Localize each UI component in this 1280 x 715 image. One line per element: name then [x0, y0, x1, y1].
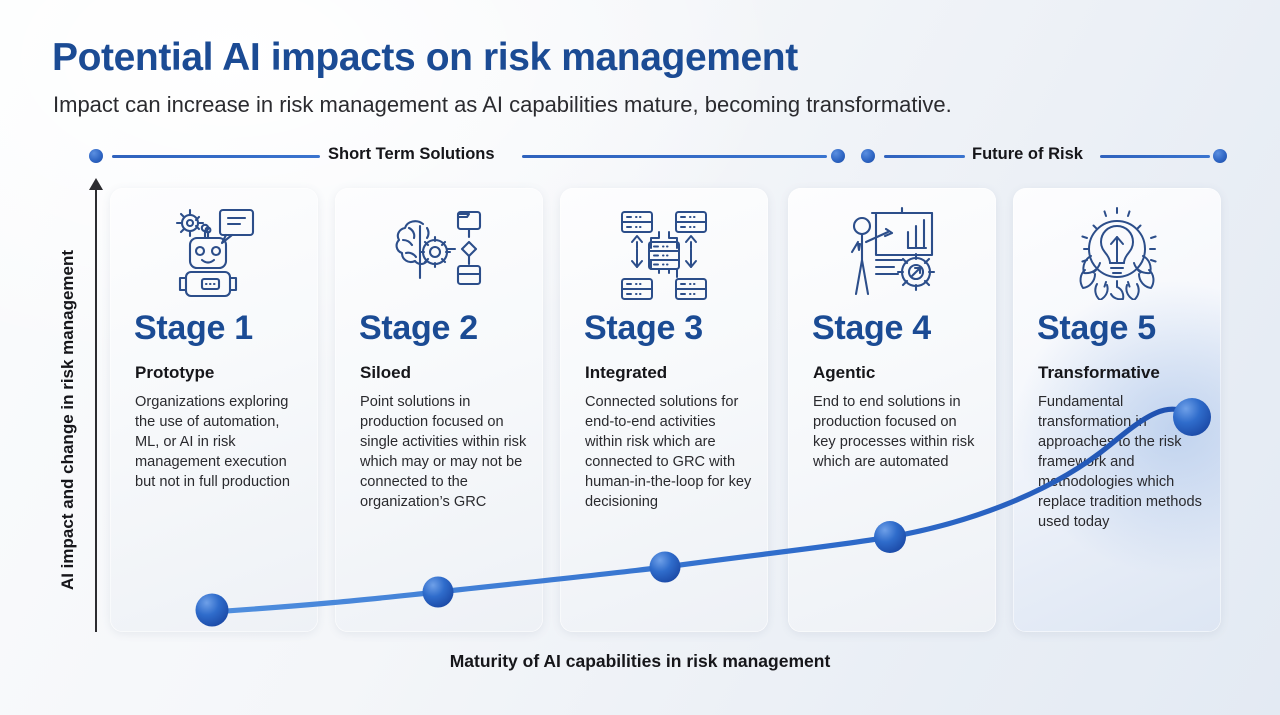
page-subtitle: Impact can increase in risk management a…	[53, 92, 952, 118]
timeline-dot-mid-left	[831, 149, 845, 163]
timeline-dot-start	[89, 149, 103, 163]
y-axis-label: AI impact and change in risk management	[58, 220, 78, 620]
stage-card-5[interactable]: Stage 5 Transformative Fundamental trans…	[1013, 188, 1221, 632]
server-network-icon	[560, 204, 768, 300]
stage-card-1[interactable]: Stage 1 Prototype Organizations explorin…	[110, 188, 318, 632]
y-axis-line	[95, 186, 97, 632]
timeline: Short Term Solutions Future of Risk	[0, 138, 1280, 176]
timeline-line-right-inner	[884, 155, 965, 158]
stage-subtitle: Agentic	[813, 363, 875, 383]
stage-body: Fundamental transformation in approaches…	[1038, 392, 1205, 532]
x-axis-label: Maturity of AI capabilities in risk mana…	[0, 651, 1280, 672]
presenter-chart-gear-icon	[788, 204, 996, 300]
stage-body: End to end solutions in production focus…	[813, 392, 980, 472]
stage-subtitle: Transformative	[1038, 363, 1160, 383]
timeline-line-left	[112, 155, 320, 158]
page-title: Potential AI impacts on risk management	[52, 36, 798, 80]
timeline-line-middle	[522, 155, 827, 158]
stage-title: Stage 5	[1037, 309, 1156, 348]
timeline-dot-end	[1213, 149, 1227, 163]
stage-title: Stage 1	[134, 309, 253, 348]
stage-card-3[interactable]: Stage 3 Integrated Connected solutions f…	[560, 188, 768, 632]
stage-body: Point solutions in production focused on…	[360, 392, 527, 512]
stage-body: Connected solutions for end-to-end activ…	[585, 392, 752, 512]
stage-body: Organizations exploring the use of autom…	[135, 392, 302, 492]
timeline-label-short-term: Short Term Solutions	[328, 145, 495, 164]
stage-subtitle: Prototype	[135, 363, 214, 383]
robot-chat-gear-icon	[110, 204, 318, 300]
brain-gear-workflow-icon	[335, 204, 543, 300]
stage-card-4[interactable]: Stage 4 Agentic End to end solutions in …	[788, 188, 996, 632]
stage-subtitle: Integrated	[585, 363, 667, 383]
timeline-label-future-of-risk: Future of Risk	[972, 145, 1083, 164]
stage-subtitle: Siloed	[360, 363, 411, 383]
stage-title: Stage 2	[359, 309, 478, 348]
timeline-dot-mid-right	[861, 149, 875, 163]
stage-title: Stage 4	[812, 309, 931, 348]
timeline-line-right	[1100, 155, 1210, 158]
stage-title: Stage 3	[584, 309, 703, 348]
lightbulb-gear-laurel-icon	[1013, 204, 1221, 300]
infographic-canvas: Potential AI impacts on risk management …	[0, 0, 1280, 715]
stage-card-2[interactable]: Stage 2 Siloed Point solutions in produc…	[335, 188, 543, 632]
